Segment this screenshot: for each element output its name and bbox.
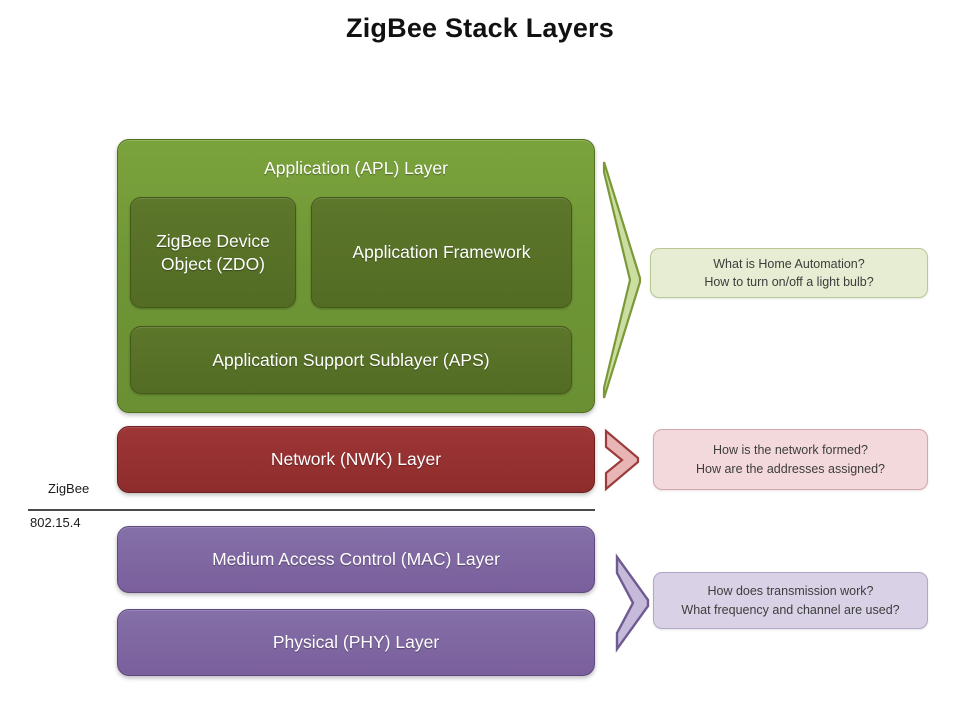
chevron-right-icon-network — [602, 428, 644, 492]
layer-box-phy[interactable]: Physical (PHY) Layer — [117, 609, 595, 676]
sublayer-box-zdo[interactable]: ZigBee Device Object (ZDO) — [130, 197, 296, 308]
layer-label-phy: Physical (PHY) Layer — [273, 632, 439, 653]
sublayer-label-application-framework: Application Framework — [353, 241, 531, 263]
sublayer-label-aps: Application Support Sublayer (APS) — [212, 349, 489, 371]
layer-label-application: Application (APL) Layer — [118, 158, 594, 179]
sublayer-box-aps[interactable]: Application Support Sublayer (APS) — [130, 326, 572, 394]
page-title: ZigBee Stack Layers — [0, 13, 960, 44]
layer-box-mac[interactable]: Medium Access Control (MAC) Layer — [117, 526, 595, 593]
layer-label-mac: Medium Access Control (MAC) Layer — [212, 549, 500, 570]
scope-label-ieee-802-15-4: 802.15.4 — [30, 515, 81, 530]
chevron-right-icon-mac — [612, 554, 654, 652]
callout-text-application: What is Home Automation? How to turn on/… — [704, 255, 873, 291]
callout-network: How is the network formed? How are the a… — [653, 429, 928, 490]
sublayer-box-application-framework[interactable]: Application Framework — [311, 197, 572, 308]
layer-box-network[interactable]: Network (NWK) Layer — [117, 426, 595, 493]
scope-divider — [28, 509, 595, 511]
callout-application: What is Home Automation? How to turn on/… — [650, 248, 928, 298]
scope-label-zigbee: ZigBee — [48, 481, 89, 496]
layer-label-network: Network (NWK) Layer — [271, 449, 441, 470]
slide-canvas: ZigBee Stack Layers Application (APL) La… — [0, 0, 960, 720]
layer-box-application[interactable]: Application (APL) Layer ZigBee Device Ob… — [117, 139, 595, 413]
chevron-right-icon-application — [600, 160, 644, 400]
sublayer-label-zdo: ZigBee Device Object (ZDO) — [156, 230, 270, 275]
callout-mac: How does transmission work? What frequen… — [653, 572, 928, 629]
callout-text-network: How is the network formed? How are the a… — [696, 441, 885, 477]
callout-text-mac: How does transmission work? What frequen… — [681, 582, 899, 618]
